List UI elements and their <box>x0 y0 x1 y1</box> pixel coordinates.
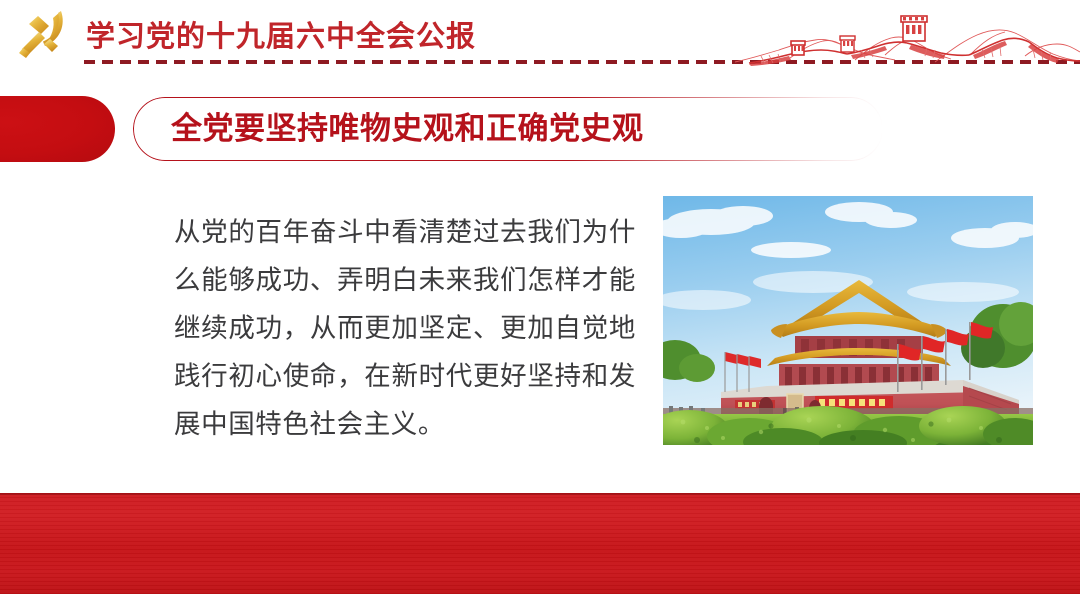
slide-root: 学习党的十九届六中全会公报 <box>0 0 1080 594</box>
header: 学习党的十九届六中全会公报 <box>0 0 1080 82</box>
party-hammer-sickle-icon <box>14 6 76 64</box>
tiananmen-photo <box>663 196 1033 445</box>
red-footer-band <box>0 493 1080 594</box>
section-title-text: 全党要坚持唯物史观和正确党史观 <box>171 110 644 148</box>
red-rounded-pill <box>0 96 115 162</box>
great-wall-icon <box>735 0 1080 66</box>
body-paragraph: 从党的百年奋斗中看清楚过去我们为什么能够成功、弄明白未来我们怎样才能继续成功，从… <box>174 208 636 448</box>
section-title-band: 全党要坚持唯物史观和正确党史观 <box>0 96 1080 162</box>
page-title: 学习党的十九届六中全会公报 <box>86 17 476 57</box>
